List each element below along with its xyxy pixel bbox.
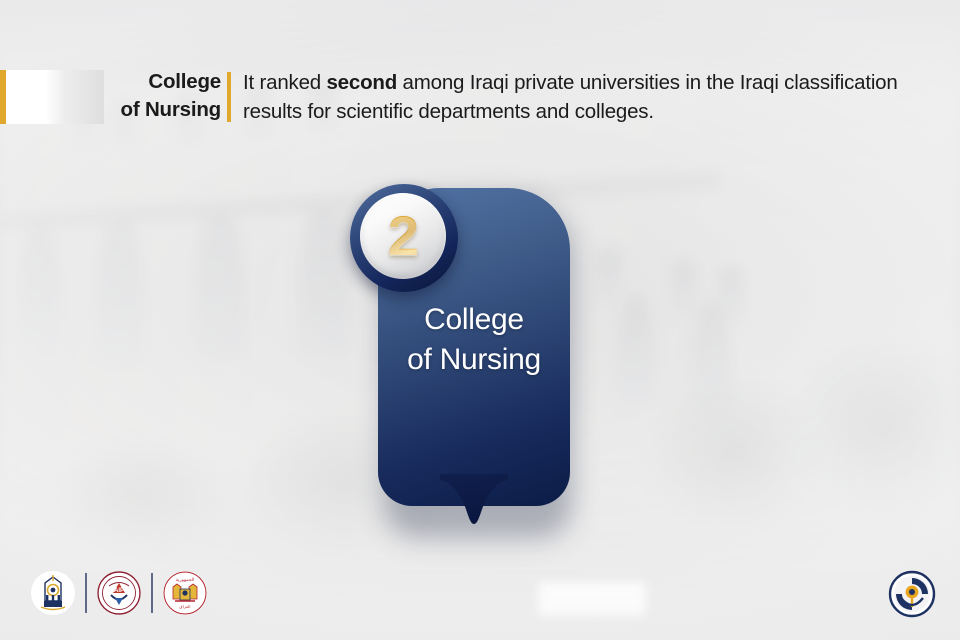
badge-rank-number: 2	[360, 193, 446, 279]
header-swatch-strip	[0, 70, 104, 124]
gold-accent-bar	[0, 70, 6, 124]
pin-tail	[440, 474, 508, 542]
rank-badge: 2	[350, 184, 458, 292]
header-title: College of Nursing	[113, 68, 221, 124]
header-body-prefix: It ranked	[243, 71, 326, 94]
header-body-text: It ranked second among Iraqi private uni…	[243, 68, 943, 126]
pin-label: College of Nursing	[378, 300, 570, 380]
pin-label-line-1: College	[424, 303, 524, 336]
header-title-line-2: of Nursing	[121, 98, 222, 121]
gold-divider-bar	[227, 72, 231, 122]
institution-emblem	[888, 570, 936, 618]
footer-logo-group: AIP الجمهورية العراق	[30, 570, 208, 616]
blurred-watermark	[538, 582, 646, 616]
university-seal-logo	[30, 570, 76, 616]
logo-divider	[85, 573, 87, 613]
logo-divider	[151, 573, 153, 613]
accreditation-logo: AIP	[96, 570, 142, 616]
poster-canvas: College of Nursing It ranked second amon…	[0, 0, 960, 640]
ministry-logo: الجمهورية العراق	[162, 570, 208, 616]
header-title-line-1: College	[148, 70, 221, 93]
pin-label-line-2: of Nursing	[407, 343, 541, 376]
header-bar: College of Nursing It ranked second amon…	[0, 68, 960, 126]
svg-text:العراق: العراق	[179, 604, 190, 609]
header-body-emphasis: second	[326, 71, 397, 94]
svg-text:AIP: AIP	[114, 588, 124, 594]
